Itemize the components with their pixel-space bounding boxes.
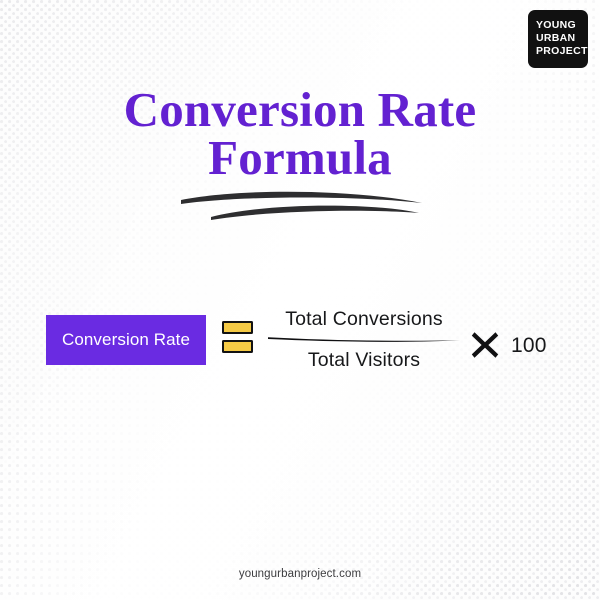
footer-website[interactable]: youngurbanproject.com: [0, 568, 600, 580]
equals-bar-top: [222, 321, 253, 334]
fraction-denominator: Total Visitors: [266, 349, 462, 372]
brand-logo[interactable]: YOUNG URBAN PROJECT: [528, 10, 588, 68]
poster-canvas: YOUNG URBAN PROJECT Conversion Rate Form…: [0, 0, 600, 600]
title-line-1: Conversion Rate: [124, 82, 477, 137]
title-line-2: Formula: [0, 134, 600, 182]
fraction-bar: [266, 335, 462, 343]
page-title: Conversion Rate Formula: [0, 86, 600, 181]
logo-line-project: PROJECT: [536, 45, 588, 58]
multiplier-value: 100: [511, 334, 547, 358]
logo-line-urban: URBAN: [536, 32, 588, 45]
fraction: Total Conversions Total Visitors: [266, 308, 462, 372]
conversion-rate-label: Conversion Rate: [62, 330, 190, 350]
fraction-numerator: Total Conversions: [266, 308, 462, 331]
multiply-icon: [470, 330, 500, 360]
equals-sign-icon: [222, 321, 253, 355]
conversion-rate-label-box: Conversion Rate: [46, 315, 206, 365]
brush-swoosh-underline-icon: [175, 186, 430, 226]
equals-bar-bottom: [222, 340, 253, 353]
logo-line-young: YOUNG: [536, 19, 588, 32]
